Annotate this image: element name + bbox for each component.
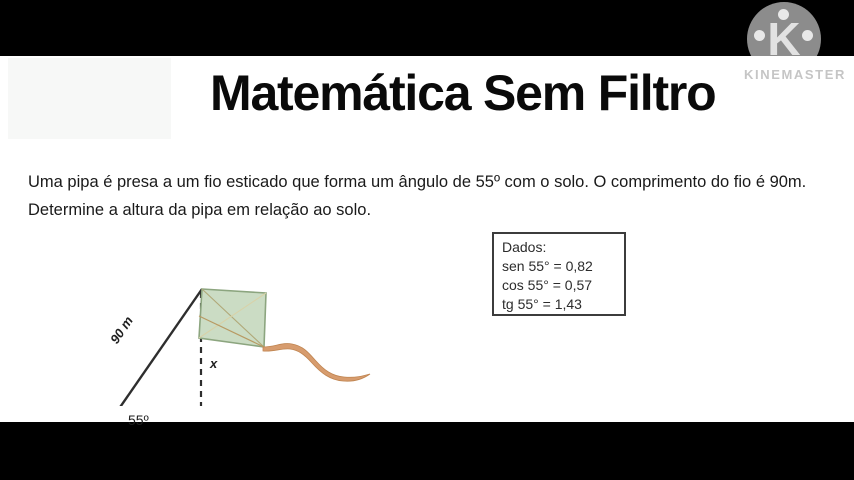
dados-title: Dados: (502, 238, 624, 257)
logo-placeholder-panel (8, 58, 171, 139)
dados-box: Dados: sen 55° = 0,82 cos 55° = 0,57 tg … (492, 232, 626, 316)
kite-triangle-diagram: 90 m x 55º (60, 216, 390, 406)
angle-label: 55º (128, 412, 149, 428)
dados-row-tg: tg 55° = 1,43 (502, 295, 624, 314)
page-title: Matemática Sem Filtro (210, 62, 716, 124)
letterbox-bar-top (0, 0, 854, 56)
dados-row-sen: sen 55° = 0,82 (502, 257, 624, 276)
kite-tail (263, 344, 370, 382)
letterbox-bar-bottom (0, 422, 854, 480)
video-frame: Matemática Sem Filtro Uma pipa é presa a… (0, 0, 854, 480)
hypotenuse-line (98, 289, 202, 406)
height-label: x (210, 356, 217, 371)
dados-row-cos: cos 55° = 0,57 (502, 276, 624, 295)
diagram-svg (60, 216, 390, 406)
slide-canvas: Matemática Sem Filtro Uma pipa é presa a… (0, 56, 854, 422)
